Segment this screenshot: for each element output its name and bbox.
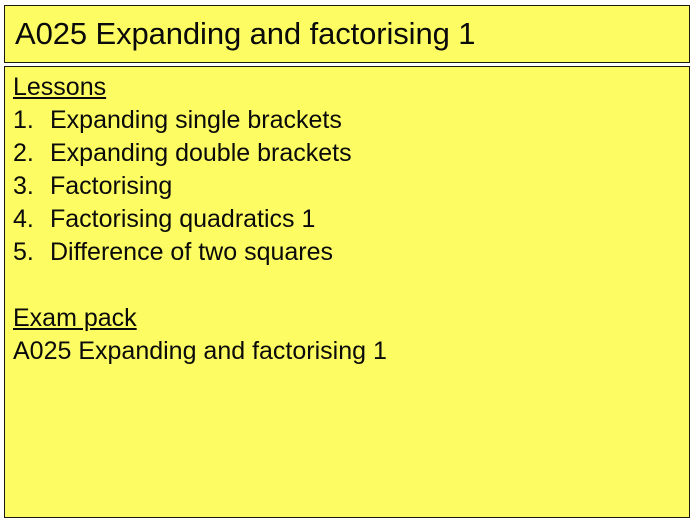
exam-pack-heading-row: Exam pack: [13, 302, 681, 335]
list-item: 5. Difference of two squares: [13, 236, 681, 269]
title-placeholder[interactable]: A025 Expanding and factorising 1: [4, 5, 690, 63]
list-item-number: 2.: [13, 137, 50, 170]
list-item-number: 1.: [13, 104, 50, 137]
list-item-label: Factorising quadratics 1: [50, 203, 315, 236]
exam-pack-heading: Exam pack: [13, 302, 137, 335]
lessons-heading: Lessons: [13, 71, 106, 104]
lessons-heading-row: Lessons: [13, 71, 681, 104]
list-item: 1. Expanding single brackets: [13, 104, 681, 137]
list-item-number: 3.: [13, 170, 50, 203]
blank-line: [13, 269, 681, 302]
list-item-label: Expanding single brackets: [50, 104, 342, 137]
list-item: 2. Expanding double brackets: [13, 137, 681, 170]
list-item-label: Factorising: [50, 170, 172, 203]
slide-title: A025 Expanding and factorising 1: [5, 17, 475, 51]
list-item: 4. Factorising quadratics 1: [13, 203, 681, 236]
lesson-list: 1. Expanding single brackets 2. Expandin…: [13, 104, 681, 269]
list-item-number: 5.: [13, 236, 50, 269]
list-item-label: Expanding double brackets: [50, 137, 352, 170]
list-item: 3. Factorising: [13, 170, 681, 203]
exam-pack-item: A025 Expanding and factorising 1: [13, 335, 681, 368]
slide: A025 Expanding and factorising 1 Lessons…: [0, 0, 698, 523]
list-item-label: Difference of two squares: [50, 236, 333, 269]
body-placeholder[interactable]: Lessons 1. Expanding single brackets 2. …: [4, 66, 690, 518]
list-item-number: 4.: [13, 203, 50, 236]
